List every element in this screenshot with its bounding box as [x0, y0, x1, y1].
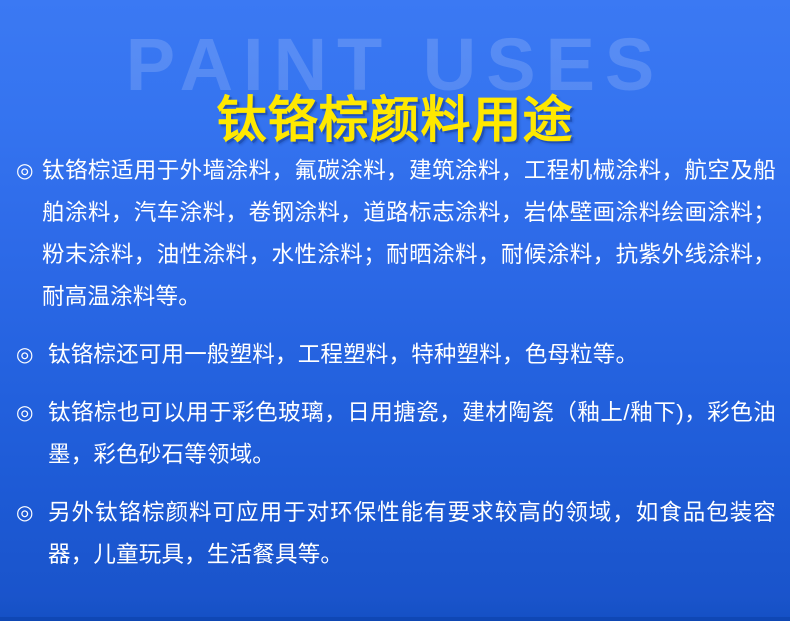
list-item: ◎ 钛铬棕还可用一般塑料，工程塑料，特种塑料，色母粒等。 — [16, 334, 776, 376]
bullet-marker-icon: ◎ — [16, 334, 48, 376]
bottom-accent-strip — [0, 617, 790, 621]
bullet-marker-icon: ◎ — [16, 392, 48, 434]
list-item: ◎ 另外钛铬棕颜料可应用于对环保性能有要求较高的领域，如食品包装容器，儿童玩具，… — [16, 492, 776, 576]
list-item-text: 钛铬棕还可用一般塑料，工程塑料，特种塑料，色母粒等。 — [48, 334, 776, 376]
list-item-text: 另外钛铬棕颜料可应用于对环保性能有要求较高的领域，如食品包装容器，儿童玩具，生活… — [48, 492, 776, 576]
bullet-marker-icon: ◎ — [16, 150, 42, 192]
list-item-text: 钛铬棕适用于外墙涂料，氟碳涂料，建筑涂料，工程机械涂料，航空及船舶涂料，汽车涂料… — [42, 150, 776, 318]
list-item: ◎ 钛铬棕适用于外墙涂料，氟碳涂料，建筑涂料，工程机械涂料，航空及船舶涂料，汽车… — [16, 150, 776, 318]
bullet-marker-icon: ◎ — [16, 492, 48, 534]
bullet-list: ◎ 钛铬棕适用于外墙涂料，氟碳涂料，建筑涂料，工程机械涂料，航空及船舶涂料，汽车… — [0, 142, 790, 621]
list-item: ◎ 钛铬棕也可以用于彩色玻璃，日用搪瓷，建材陶瓷（釉上/釉下)，彩色油墨，彩色砂… — [16, 392, 776, 476]
poster-header: PAINT USES 钛铬棕颜料用途 — [0, 0, 790, 142]
list-item-text: 钛铬棕也可以用于彩色玻璃，日用搪瓷，建材陶瓷（釉上/釉下)，彩色油墨，彩色砂石等… — [48, 392, 776, 476]
poster-canvas: PAINT USES 钛铬棕颜料用途 ◎ 钛铬棕适用于外墙涂料，氟碳涂料，建筑涂… — [0, 0, 790, 621]
